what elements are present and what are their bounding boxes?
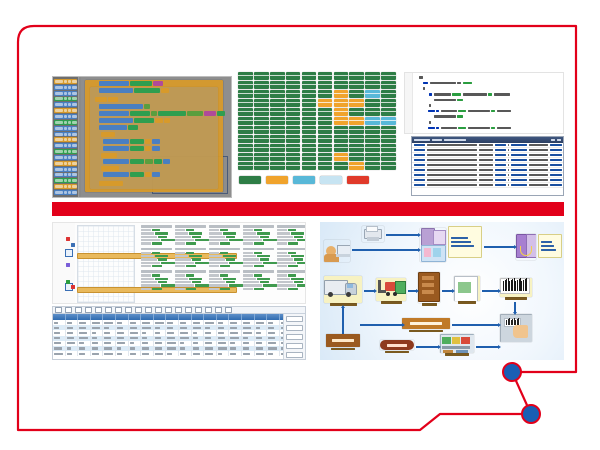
- status-cell-r1-c0[interactable]: [238, 81, 253, 89]
- status-cell-r1-c1[interactable]: [254, 81, 269, 89]
- red-divider-bar: [52, 202, 564, 216]
- table-side-button-4[interactable]: [286, 352, 303, 358]
- note-block-4-0: [277, 225, 306, 245]
- flow-arrow-v-11: [342, 308, 344, 334]
- status-cell-r2-c6[interactable]: [334, 90, 349, 98]
- block-row-8[interactable]: [103, 139, 160, 144]
- palette-block-4[interactable]: [54, 102, 77, 107]
- node-storage-tags[interactable]: [538, 234, 562, 258]
- status-cell-r3-c0[interactable]: [238, 99, 253, 107]
- flow-arrowhead-3: [374, 289, 377, 293]
- node-unloading-forklift[interactable]: [376, 278, 406, 304]
- block-row-12[interactable]: [101, 166, 119, 171]
- status-cell-r7-c0[interactable]: [238, 135, 253, 143]
- toolbar-button-16[interactable]: [215, 307, 222, 314]
- status-cell-r7-c6[interactable]: [334, 135, 349, 143]
- status-cell-r7-c2[interactable]: [270, 135, 285, 143]
- status-cell-r6-c7[interactable]: [349, 126, 364, 134]
- tag-line-0: [451, 237, 468, 240]
- node-shelf-storage-graphic: [440, 334, 474, 353]
- node-doc-tags[interactable]: [448, 226, 482, 258]
- status-cell-r6-c4[interactable]: [302, 126, 317, 134]
- block-row-2[interactable]: [95, 97, 118, 102]
- note-line: [277, 262, 306, 264]
- status-cell-r1-c4[interactable]: [302, 81, 317, 89]
- palette-block-15[interactable]: [54, 167, 77, 172]
- table-cell[interactable]: [53, 351, 66, 356]
- note-heading: [243, 225, 274, 228]
- status-cell-r3-c1[interactable]: [254, 99, 269, 107]
- note-column-4: [277, 225, 306, 293]
- code-line-7: [434, 115, 464, 118]
- note-line: [277, 236, 306, 238]
- node-label: [409, 330, 443, 332]
- gantt-marker-3: [71, 285, 75, 289]
- flow-arrow-h-1: [386, 234, 418, 236]
- flow-arrowhead-5: [452, 289, 455, 293]
- flow-arrow-h-3: [364, 290, 374, 292]
- gantt-row-headers: [53, 223, 75, 303]
- block-row-13[interactable]: [103, 172, 160, 177]
- status-cell-r7-c7[interactable]: [349, 135, 364, 143]
- status-cell-r5-c9[interactable]: [381, 117, 396, 125]
- status-cell-r4-c6[interactable]: [334, 108, 349, 116]
- node-supplier-truck[interactable]: [324, 276, 362, 306]
- status-cell-r5-c4[interactable]: [302, 117, 317, 125]
- code-line-5: [429, 104, 431, 107]
- status-cell-r6-c2[interactable]: [270, 126, 285, 134]
- table-cell[interactable]: [267, 351, 280, 356]
- block-row-9[interactable]: [103, 146, 160, 151]
- code-line-4: [434, 98, 464, 101]
- node-quality-check[interactable]: [454, 276, 480, 304]
- code-text-area[interactable]: [404, 72, 564, 134]
- toolbar-button-14[interactable]: [195, 307, 202, 314]
- console-log-rows[interactable]: [412, 143, 563, 188]
- status-cell-r1-c9[interactable]: [381, 81, 396, 89]
- node-barcode-label[interactable]: [500, 278, 532, 300]
- toolbar-button-9[interactable]: [145, 307, 152, 314]
- data-table[interactable]: [52, 306, 306, 360]
- status-cell-r2-c0[interactable]: [238, 90, 253, 98]
- block-row-1[interactable]: [99, 88, 169, 93]
- note-block-4-1: [277, 248, 306, 268]
- status-cell-r4-c0[interactable]: [238, 108, 253, 116]
- flow-arrow-h-0: [352, 249, 418, 251]
- status-cell-r9-c5[interactable]: [318, 153, 333, 161]
- flow-arrowhead-0: [418, 248, 421, 252]
- status-cell-r5-c0[interactable]: [238, 117, 253, 125]
- flow-arrow-h-8: [476, 346, 498, 348]
- node-label: [331, 348, 355, 350]
- status-cell-r1-c2[interactable]: [270, 81, 285, 89]
- node-office-printer[interactable]: [362, 226, 384, 242]
- block-row-7[interactable]: [101, 132, 115, 137]
- status-cell-r4-c8[interactable]: [365, 108, 380, 116]
- block-row-6[interactable]: [99, 125, 138, 130]
- status-cell-r5-c3[interactable]: [286, 117, 301, 125]
- status-cell-r3-c5[interactable]: [318, 99, 333, 107]
- table-side-button-3[interactable]: [286, 343, 303, 349]
- status-cell-r5-c2[interactable]: [270, 117, 285, 125]
- palette-block-11[interactable]: [54, 143, 77, 148]
- toolbar-button-1[interactable]: [65, 307, 72, 314]
- table-toolbar[interactable]: [53, 307, 305, 314]
- console-log-panel[interactable]: [411, 136, 564, 196]
- status-cell-r2-c4[interactable]: [302, 90, 317, 98]
- note-heading: [141, 270, 172, 273]
- table-cell[interactable]: [141, 351, 154, 356]
- status-cell-r2-c2[interactable]: [270, 90, 285, 98]
- table-cell[interactable]: [192, 351, 205, 356]
- node-storage-binder-graphic: [516, 234, 536, 260]
- code-editor-screenshot[interactable]: [404, 72, 564, 196]
- palette-block-12[interactable]: [54, 149, 77, 154]
- flow-arrowhead-9: [438, 345, 441, 349]
- node-shelf-storage[interactable]: [440, 334, 474, 356]
- toolbar-button-12[interactable]: [175, 307, 182, 314]
- note-heading: [141, 225, 172, 228]
- block-row-14[interactable]: [99, 181, 123, 186]
- status-cell-r0-c8[interactable]: [365, 72, 380, 80]
- flow-arrowhead-8: [498, 345, 501, 349]
- node-handheld-scan[interactable]: [500, 314, 532, 342]
- table-cell[interactable]: [66, 351, 79, 356]
- status-cell-r9-c2[interactable]: [270, 153, 285, 161]
- line-number-gutter: [405, 73, 413, 133]
- status-cell-r8-c7[interactable]: [349, 144, 364, 152]
- status-cell-r1-c5[interactable]: [318, 81, 333, 89]
- table-cell[interactable]: [204, 351, 217, 356]
- status-cell-r9-c7[interactable]: [349, 153, 364, 161]
- node-storage-binder[interactable]: [516, 234, 536, 260]
- palette-block-7[interactable]: [54, 120, 77, 125]
- status-cell-r6-c8[interactable]: [365, 126, 380, 134]
- status-cell-r3-c8[interactable]: [365, 99, 380, 107]
- status-cell-r5-c1[interactable]: [254, 117, 269, 125]
- node-order-clerk-graphic: [324, 240, 350, 262]
- blocks-canvas[interactable]: [81, 77, 231, 197]
- status-cell-r3-c6[interactable]: [334, 99, 349, 107]
- status-cell-r4-c9[interactable]: [381, 108, 396, 116]
- legend-info: [293, 176, 315, 184]
- toolbar-button-4[interactable]: [95, 307, 102, 314]
- status-cell-r7-c3[interactable]: [286, 135, 301, 143]
- status-cell-r10-c4[interactable]: [302, 162, 317, 170]
- block-row-0[interactable]: [99, 81, 163, 86]
- palette-block-5[interactable]: [54, 108, 77, 113]
- status-cell-r9-c4[interactable]: [302, 153, 317, 161]
- status-cell-r9-c3[interactable]: [286, 153, 301, 161]
- gantt-marker-4: [66, 263, 70, 267]
- status-cell-r0-c9[interactable]: [381, 72, 396, 80]
- console-log-row-8[interactable]: [412, 183, 563, 188]
- toolbar-button-6[interactable]: [115, 307, 122, 314]
- gantt-marker-2: [66, 280, 70, 284]
- note-line: [277, 232, 306, 234]
- status-cell-r9-c0[interactable]: [238, 153, 253, 161]
- status-cell-r8-c5[interactable]: [318, 144, 333, 152]
- status-cell-r5-c6[interactable]: [334, 117, 349, 125]
- status-cell-r1-c8[interactable]: [365, 81, 380, 89]
- node-inspection-cabinet[interactable]: [418, 272, 440, 306]
- palette-block-14[interactable]: [54, 161, 77, 166]
- status-cell-r6-c0[interactable]: [238, 126, 253, 134]
- status-cell-r0-c7[interactable]: [349, 72, 364, 80]
- status-cell-r7-c5[interactable]: [318, 135, 333, 143]
- status-cell-r4-c1[interactable]: [254, 108, 269, 116]
- flow-arrowhead-12: [402, 323, 405, 327]
- status-cell-r10-c9[interactable]: [381, 162, 396, 170]
- code-line-9: [428, 126, 511, 129]
- palette-block-18[interactable]: [54, 184, 77, 189]
- palette-block-1[interactable]: [54, 85, 77, 90]
- table-side-button-0[interactable]: [286, 316, 303, 322]
- node-label: [381, 301, 402, 304]
- status-cell-r10-c3[interactable]: [286, 162, 301, 170]
- note-line: [277, 288, 306, 290]
- table-cell[interactable]: [116, 351, 129, 356]
- status-cell-r4-c4[interactable]: [302, 108, 317, 116]
- palette-block-19[interactable]: [54, 190, 77, 195]
- legend-idle: [320, 176, 342, 184]
- status-cell-r10-c5[interactable]: [318, 162, 333, 170]
- status-cell-r0-c6[interactable]: [334, 72, 349, 80]
- table-cell[interactable]: [103, 351, 116, 356]
- note-heading: [209, 248, 240, 251]
- tag-line-0: [541, 241, 552, 244]
- status-cell-r2-c7[interactable]: [349, 90, 364, 98]
- status-cell-r0-c5[interactable]: [318, 72, 333, 80]
- table-cell[interactable]: [129, 351, 142, 356]
- toolbar-button-0[interactable]: [55, 307, 62, 314]
- status-cell-r6-c1[interactable]: [254, 126, 269, 134]
- note-line: [277, 281, 306, 283]
- note-line: [277, 274, 306, 276]
- toolbar-button-8[interactable]: [135, 307, 142, 314]
- status-cell-r9-c6[interactable]: [334, 153, 349, 161]
- status-cell-r5-c8[interactable]: [365, 117, 380, 125]
- status-cell-r10-c8[interactable]: [365, 162, 380, 170]
- status-cell-r8-c9[interactable]: [381, 144, 396, 152]
- note-line: [277, 242, 306, 244]
- status-cell-r3-c9[interactable]: [381, 99, 396, 107]
- block-row-5[interactable]: [99, 118, 170, 123]
- palette-block-0[interactable]: [54, 79, 77, 84]
- flow-arrow-h-6: [482, 290, 498, 292]
- status-cell-r3-c7[interactable]: [349, 99, 364, 107]
- gantt-marker-0: [66, 237, 70, 241]
- toolbar-button-13[interactable]: [185, 307, 192, 314]
- toolbar-button-3[interactable]: [85, 307, 92, 314]
- table-cell[interactable]: [154, 351, 167, 356]
- status-cell-r2-c1[interactable]: [254, 90, 269, 98]
- table-cell[interactable]: [166, 351, 179, 356]
- node-label: [385, 351, 409, 353]
- status-cell-r10-c7[interactable]: [349, 162, 364, 170]
- palette-block-2[interactable]: [54, 91, 77, 96]
- bottom-content-band: [52, 222, 564, 360]
- status-cell-r7-c8[interactable]: [365, 135, 380, 143]
- note-heading: [209, 225, 240, 228]
- status-cell-r6-c9[interactable]: [381, 126, 396, 134]
- block-row-4[interactable]: [99, 111, 225, 116]
- block-row-3[interactable]: [99, 104, 150, 109]
- status-cell-r4-c7[interactable]: [349, 108, 364, 116]
- status-cell-r9-c8[interactable]: [365, 153, 380, 161]
- toolbar-button-10[interactable]: [155, 307, 162, 314]
- node-inspection-cabinet-graphic: [418, 272, 440, 303]
- toolbar-button-15[interactable]: [205, 307, 212, 314]
- node-label: [445, 353, 469, 356]
- tag-line-2: [541, 249, 556, 252]
- node-reject-area[interactable]: [402, 318, 450, 332]
- status-cell-r3-c4[interactable]: [302, 99, 317, 107]
- palette-block-6[interactable]: [54, 114, 77, 119]
- status-cell-r1-c7[interactable]: [349, 81, 364, 89]
- tag-line-2: [451, 245, 474, 248]
- status-cell-r8-c8[interactable]: [365, 144, 380, 152]
- status-cell-r8-c6[interactable]: [334, 144, 349, 152]
- table-row[interactable]: [53, 351, 305, 356]
- schedule-sheet-screenshot[interactable]: [52, 222, 306, 360]
- status-cell-r0-c4[interactable]: [302, 72, 317, 80]
- table-side-buttons[interactable]: [283, 314, 305, 359]
- status-cell-r1-c3[interactable]: [286, 81, 301, 89]
- status-cell-r4-c5[interactable]: [318, 108, 333, 116]
- status-card-grid[interactable]: [238, 72, 396, 170]
- code-line-2: [423, 87, 425, 90]
- status-cell-r2-c5[interactable]: [318, 90, 333, 98]
- gantt-marker-1: [71, 243, 75, 247]
- table-cell[interactable]: [229, 351, 242, 356]
- table-side-button-2[interactable]: [286, 334, 303, 340]
- table-cell[interactable]: [78, 351, 91, 356]
- palette-block-10[interactable]: [54, 137, 77, 142]
- logistics-flowchart-screenshot[interactable]: [320, 222, 564, 360]
- status-cell-r0-c2[interactable]: [270, 72, 285, 80]
- note-heading: [175, 270, 206, 273]
- table-cell[interactable]: [217, 351, 230, 356]
- status-cell-r5-c7[interactable]: [349, 117, 364, 125]
- status-cell-r10-c2[interactable]: [270, 162, 285, 170]
- status-cell-r8-c2[interactable]: [270, 144, 285, 152]
- status-cell-r4-c2[interactable]: [270, 108, 285, 116]
- blocks-editor-screenshot[interactable]: [52, 76, 232, 198]
- status-cell-r4-c3[interactable]: [286, 108, 301, 116]
- toolbar-button-17[interactable]: [225, 307, 232, 314]
- status-cell-r7-c1[interactable]: [254, 135, 269, 143]
- status-cell-r8-c4[interactable]: [302, 144, 317, 152]
- node-barcode-label-graphic: [500, 278, 532, 297]
- status-cell-r0-c1[interactable]: [254, 72, 269, 80]
- status-cell-r6-c3[interactable]: [286, 126, 301, 134]
- node-label: [505, 297, 527, 300]
- status-cell-r6-c5[interactable]: [318, 126, 333, 134]
- toolbar-button-5[interactable]: [105, 307, 112, 314]
- node-office-printer-graphic: [362, 226, 384, 242]
- status-cell-r3-c2[interactable]: [270, 99, 285, 107]
- status-cell-r8-c0[interactable]: [238, 144, 253, 152]
- toolbar-button-7[interactable]: [125, 307, 132, 314]
- status-cell-r0-c0[interactable]: [238, 72, 253, 80]
- status-cell-r3-c3[interactable]: [286, 99, 301, 107]
- block-row-11[interactable]: [103, 159, 170, 164]
- gantt-chart[interactable]: [52, 222, 306, 304]
- status-cell-r8-c3[interactable]: [286, 144, 301, 152]
- node-reject-warehouse-graphic: [326, 334, 360, 347]
- status-grid-screenshot[interactable]: [238, 72, 396, 196]
- status-cell-r5-c5[interactable]: [318, 117, 333, 125]
- node-handheld-scan-graphic: [500, 314, 532, 342]
- table-body[interactable]: [53, 320, 305, 356]
- status-cell-r2-c3[interactable]: [286, 90, 301, 98]
- palette-block-9[interactable]: [54, 132, 77, 137]
- status-cell-r9-c9[interactable]: [381, 153, 396, 161]
- status-cell-r1-c6[interactable]: [334, 81, 349, 89]
- status-cell-r0-c3[interactable]: [286, 72, 301, 80]
- node-receiving-desk[interactable]: [420, 228, 446, 262]
- status-cell-r9-c1[interactable]: [254, 153, 269, 161]
- status-cell-r2-c9[interactable]: [381, 90, 396, 98]
- table-side-button-1[interactable]: [286, 325, 303, 331]
- flow-arrowhead-4: [416, 289, 419, 293]
- palette-block-17[interactable]: [54, 178, 77, 183]
- table-cell[interactable]: [255, 351, 268, 356]
- node-order-clerk[interactable]: [324, 240, 350, 262]
- block-row-10[interactable]: [101, 153, 117, 158]
- code-line-1: [423, 82, 472, 85]
- palette-block-8[interactable]: [54, 126, 77, 131]
- table-cell[interactable]: [242, 351, 255, 356]
- status-cell-r6-c6[interactable]: [334, 126, 349, 134]
- status-cell-r8-c1[interactable]: [254, 144, 269, 152]
- status-cell-r7-c4[interactable]: [302, 135, 317, 143]
- status-cell-r10-c1[interactable]: [254, 162, 269, 170]
- flow-arrow-h-4: [408, 290, 416, 292]
- blocks-palette[interactable]: [53, 77, 79, 197]
- status-cell-r2-c8[interactable]: [365, 90, 380, 98]
- status-cell-r7-c9[interactable]: [381, 135, 396, 143]
- flow-arrow-h-5: [442, 290, 452, 292]
- flow-arrow-h-12: [360, 324, 402, 326]
- tag-line-1: [541, 245, 554, 248]
- node-supplier-truck-graphic: [324, 276, 362, 303]
- note-heading: [243, 270, 274, 273]
- node-reject-warehouse[interactable]: [326, 334, 360, 350]
- node-putaway-complete[interactable]: [380, 340, 414, 353]
- status-cell-r10-c0[interactable]: [238, 162, 253, 170]
- note-line: [277, 284, 306, 286]
- flow-arrow-v-7: [514, 302, 516, 312]
- palette-block-16[interactable]: [54, 173, 77, 178]
- table-cell[interactable]: [179, 351, 192, 356]
- note-heading: [243, 248, 274, 251]
- note-heading: [175, 225, 206, 228]
- toolbar-button-2[interactable]: [75, 307, 82, 314]
- note-heading: [277, 270, 306, 273]
- flow-arrowhead-7: [513, 312, 517, 315]
- legend-normal: [239, 176, 261, 184]
- palette-block-3[interactable]: [54, 97, 77, 102]
- toolbar-button-11[interactable]: [165, 307, 172, 314]
- status-cell-r10-c6[interactable]: [334, 162, 349, 170]
- gantt-node-0[interactable]: [65, 249, 73, 257]
- table-cell[interactable]: [91, 351, 104, 356]
- tag-line-1: [451, 241, 471, 244]
- flow-arrowhead-10: [498, 323, 501, 327]
- palette-block-13[interactable]: [54, 155, 77, 160]
